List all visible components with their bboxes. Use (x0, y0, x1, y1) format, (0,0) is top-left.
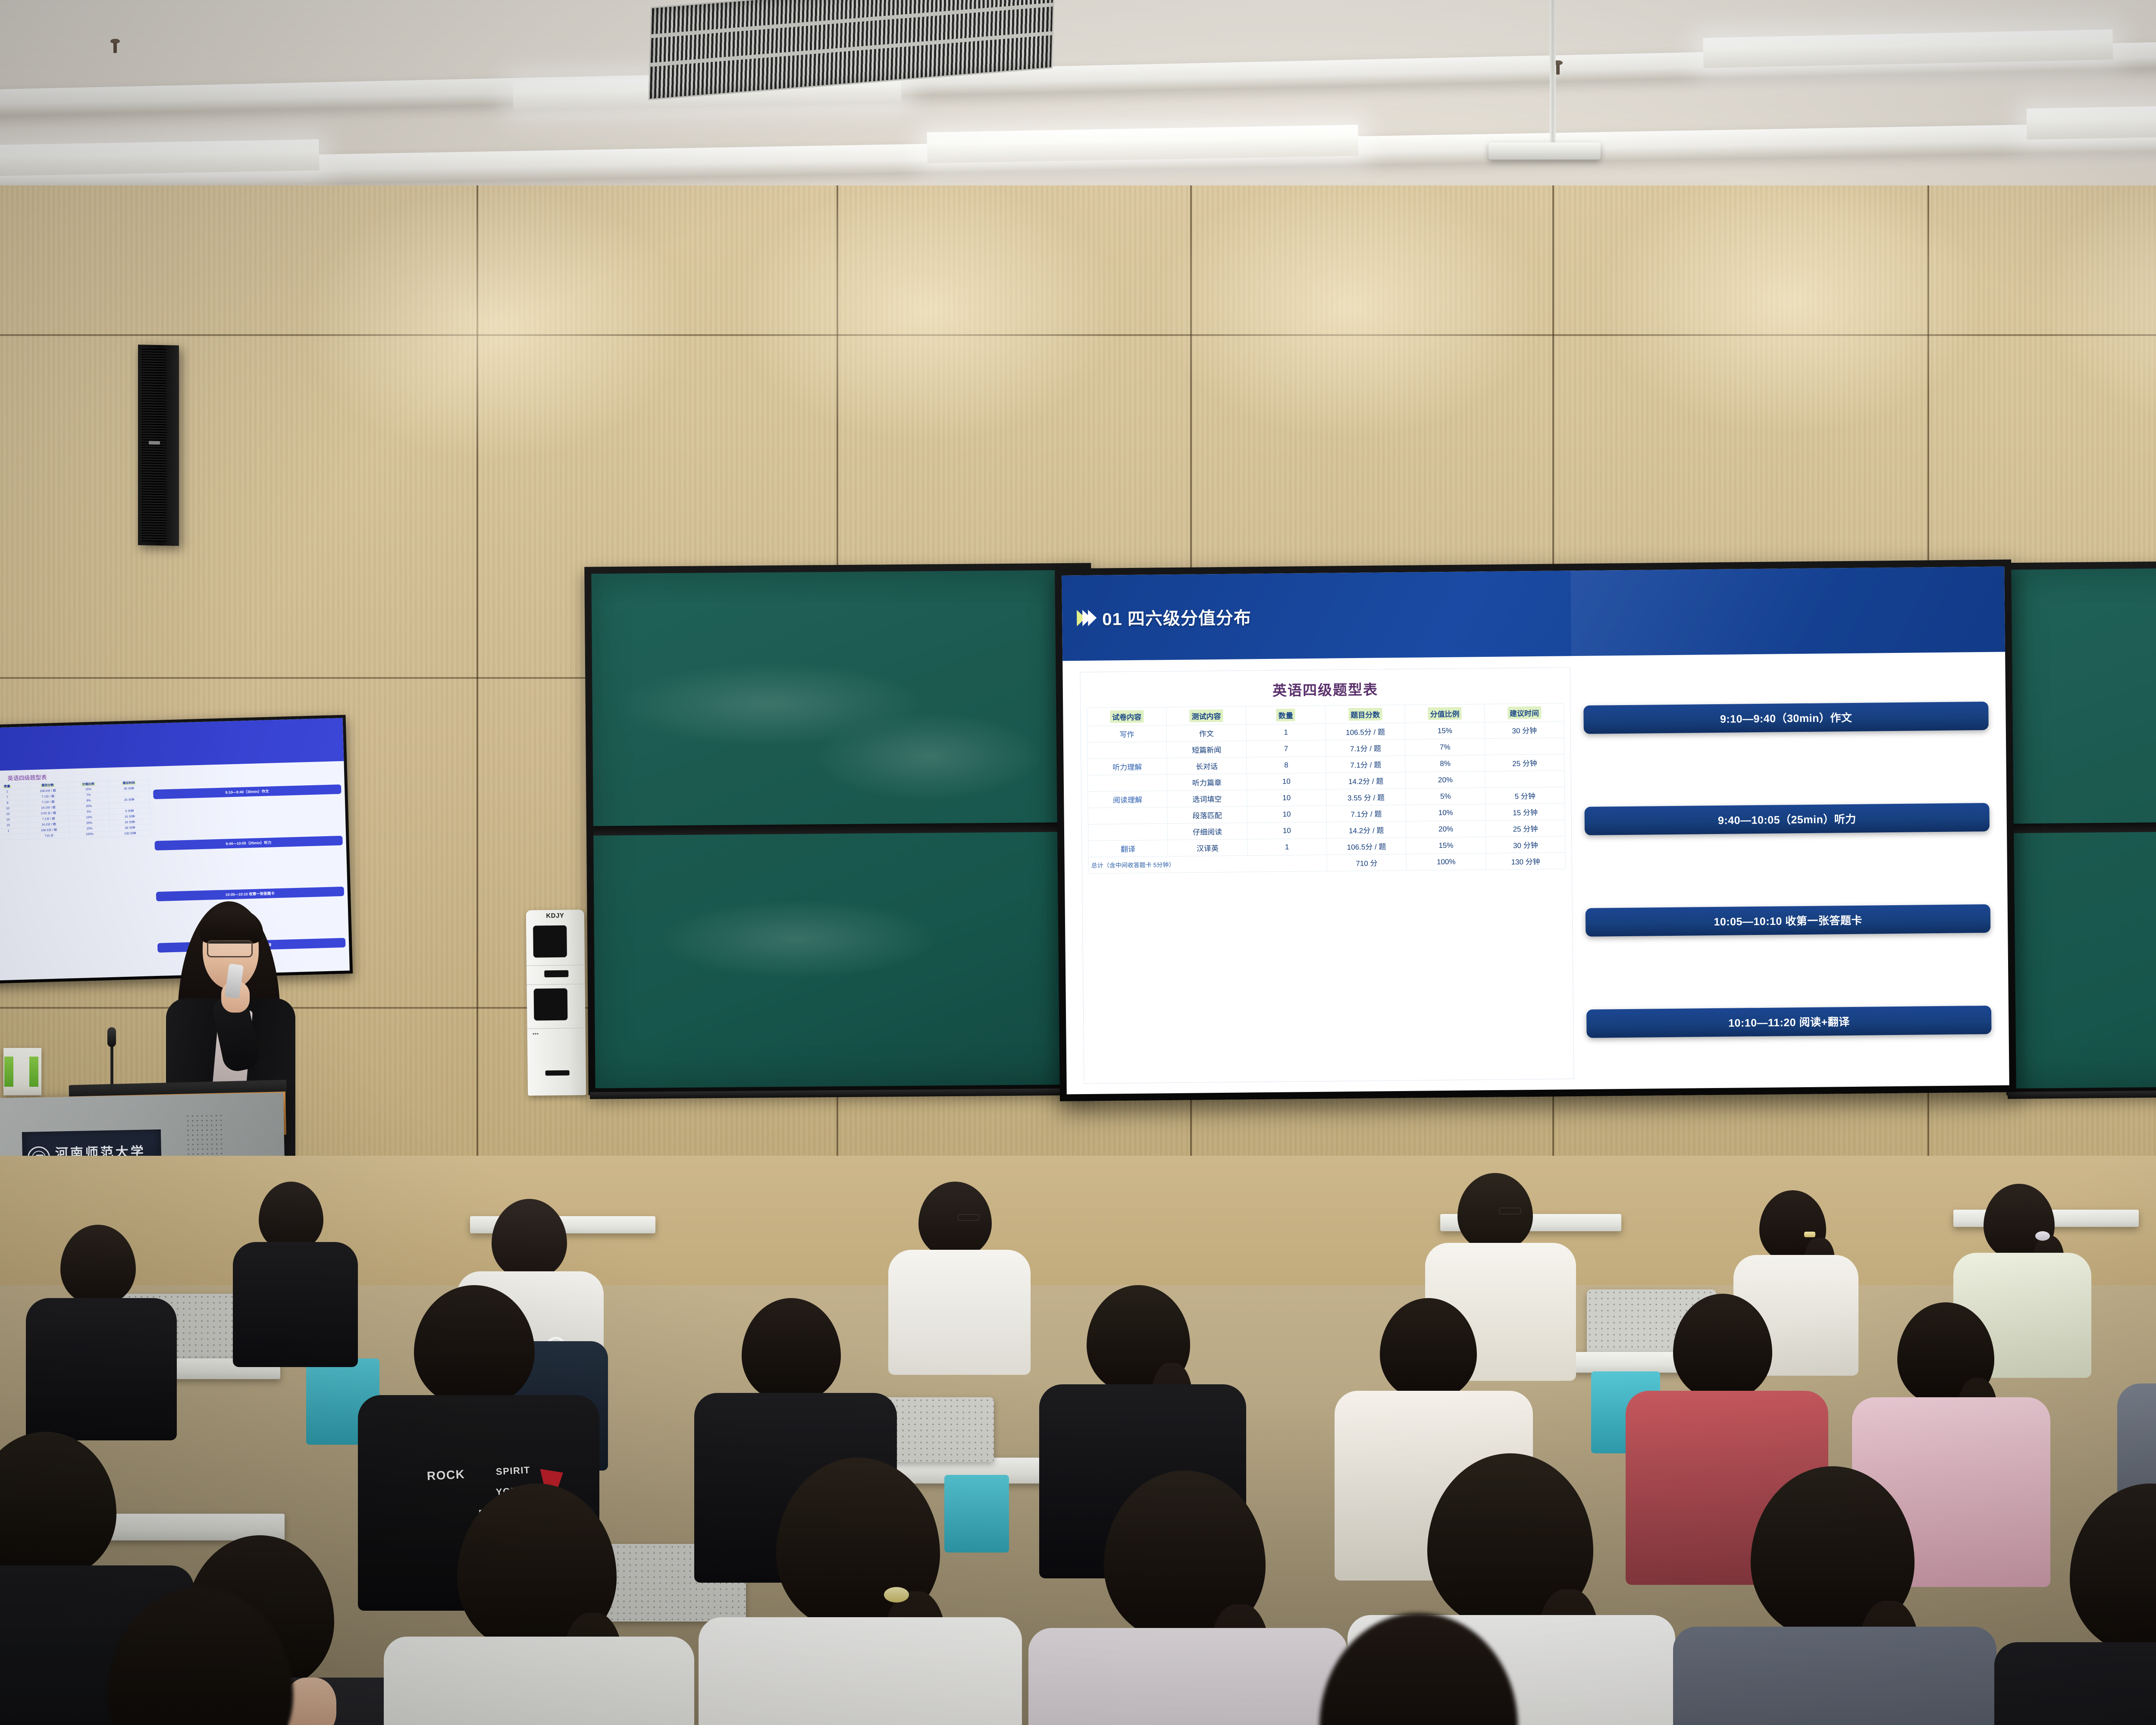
col-header-ratio: 分值比例 (1405, 704, 1485, 723)
cell-section (1088, 824, 1168, 841)
schedule-chip-writing: 9:10—9:40（30min）作文 (1583, 702, 1988, 734)
cell-total-points: 710 分 (1327, 854, 1407, 872)
monitor-score-table: 试卷内容 测试内容 数量 题目分数 分值比例 建议时间 写作作文1 (0, 779, 151, 843)
monitor-chip-writing: 9:10—9:40（30min）作文 (153, 784, 342, 799)
cell-points: 7.1分 / 题 (1326, 740, 1406, 757)
cell-ratio: 7% (1405, 739, 1485, 756)
wall-column-speaker (138, 345, 179, 546)
col-header-count: 数量 (1246, 706, 1326, 725)
cell-time (1485, 771, 1565, 788)
kdjy-bottom-slot[interactable] (545, 1070, 570, 1076)
cell-ratio: 10% (1406, 804, 1485, 822)
cell-time: 25 分钟 (1485, 820, 1565, 837)
cell-ratio: 20% (1406, 821, 1486, 838)
col-header-time: 建议时间 (1484, 703, 1564, 722)
podium-gooseneck-mic-head (107, 1027, 116, 1047)
eyeglasses-icon (957, 1214, 980, 1221)
monitor-chip-listening: 9:40—10:05（25min）听力 (154, 835, 343, 850)
monitor-chip-collect: 10:05—10:10 收第一张答题卡 (156, 887, 344, 901)
cell-count: 1 (1246, 724, 1326, 741)
cell-ratio: 15% (1405, 722, 1485, 740)
kdjy-wall-control-panel[interactable]: KDJY ●●● (526, 910, 586, 1095)
cell-total-label: 总计（含中间收答题卡 5分钟） (1088, 855, 1327, 874)
blackboard-left (584, 563, 1095, 1095)
cell-content: 选词填空 (1167, 790, 1247, 807)
schedule-chip-collect-answersheet: 10:05—10:10 收第一张答题卡 (1586, 904, 1990, 937)
presenter-glasses (207, 940, 253, 957)
cell-time (1485, 738, 1564, 755)
cell-points: 14.2分 / 题 (1326, 822, 1406, 839)
cell-total-ratio: 100% (1406, 853, 1486, 871)
ceiling-light-strip-lower-left (0, 139, 320, 176)
cell-points: 106.5分 / 题 (1327, 838, 1407, 855)
slide-title: 01 四六级分值分布 (1102, 604, 1251, 630)
slide-header-bar: 01 四六级分值分布 (1062, 567, 2005, 661)
chair-seat[interactable] (944, 1475, 1009, 1552)
score-table-card: 英语四级题型表 试卷内容 测试内容 数量 题目分数 分值比例 建议时间 (1080, 668, 1574, 1084)
cell-content: 作文 (1166, 724, 1246, 742)
chevron-right-icon-white-2 (1088, 610, 1097, 626)
projection-screen: 01 四六级分值分布 英语四级题型表 试卷内容 测试内容 数量 题目分数 分值比… (1055, 559, 2016, 1101)
cell-content: 听力篇章 (1167, 774, 1247, 791)
col-header-content: 测试内容 (1166, 706, 1246, 725)
monitor-table-wrap: 英语四级题型表 试卷内容 测试内容 数量 题目分数 分值比例 建议时间 (0, 769, 155, 980)
cell-points: 14.2分 / 题 (1326, 772, 1406, 790)
col-header-points: 题目分数 (1326, 705, 1405, 724)
graphic-tee-text-spirit: SPIRIT (495, 1465, 530, 1477)
cell-section (1088, 807, 1168, 825)
schedule-chip-listening: 9:40—10:05（25min）听力 (1585, 803, 1990, 835)
cell-content: 短篇新闻 (1167, 741, 1247, 758)
cell-points: 7.1分 / 题 (1326, 805, 1406, 822)
slide-body: 英语四级题型表 试卷内容 测试内容 数量 题目分数 分值比例 建议时间 (1062, 652, 2009, 1094)
slide-surface: 01 四六级分值分布 英语四级题型表 试卷内容 测试内容 数量 题目分数 分值比… (1062, 567, 2009, 1095)
cell-points: 106.5分 / 题 (1326, 723, 1405, 740)
cell-time: 15 分钟 (1485, 803, 1565, 821)
cell-content: 长对话 (1167, 757, 1247, 775)
chevron-group-icon (1077, 610, 1094, 626)
cell-points: 7.1分 / 题 (1326, 756, 1406, 773)
cell-content: 仔细阅读 (1168, 823, 1247, 840)
cell-section: 听力理解 (1087, 758, 1167, 775)
score-distribution-table: 试卷内容 测试内容 数量 题目分数 分值比例 建议时间 写作 作 (1087, 703, 1566, 874)
hair-scrunchie (884, 1587, 909, 1603)
cell-ratio: 20% (1406, 772, 1485, 789)
cell-ratio: 15% (1406, 837, 1486, 854)
cell-count: 1 (1247, 839, 1327, 856)
cell-time: 5 分钟 (1485, 787, 1565, 804)
schedule-chip-reading-translation: 10:10—11:20 阅读+翻译 (1586, 1006, 1991, 1038)
audience-area: THE NORTH FACE (0, 1156, 2156, 1725)
kdjy-port-lower[interactable] (534, 988, 568, 1021)
cell-content: 段落匹配 (1167, 806, 1247, 824)
kdjy-brand-label: KDJY (526, 912, 584, 919)
hair-scrunchie (2035, 1231, 2050, 1241)
table-caption: 英语四级题型表 (1087, 674, 1564, 708)
cell-count: 7 (1246, 740, 1326, 758)
eyeglasses-icon (1499, 1207, 1521, 1214)
graphic-tee-text-rock: ROCK (426, 1468, 465, 1483)
cell-time: 30 分钟 (1485, 721, 1564, 739)
cell-ratio: 5% (1406, 788, 1485, 805)
cell-section: 翻译 (1088, 840, 1168, 857)
ceiling-microphone-bar (1489, 142, 1601, 160)
cell-count: 10 (1247, 822, 1327, 840)
cell-section: 阅读理解 (1088, 791, 1168, 808)
cell-content: 汉译英 (1168, 839, 1247, 856)
cell-time: 25 分钟 (1485, 754, 1565, 772)
cell-total-time: 130 分钟 (1486, 853, 1566, 870)
kdjy-port-upper[interactable] (533, 925, 567, 958)
cell-section (1087, 775, 1167, 792)
cell-count: 10 (1247, 790, 1326, 807)
cell-section: 写作 (1087, 725, 1167, 743)
exam-schedule-column: 9:10—9:40（30min）作文 9:40—10:05（25min）听力 1… (1583, 663, 1992, 1079)
cell-ratio: 8% (1405, 755, 1485, 772)
blackboard-right (2002, 558, 2156, 1095)
cell-count: 10 (1247, 806, 1327, 823)
cell-time: 30 分钟 (1485, 836, 1565, 853)
fire-sprinkler-left (110, 39, 120, 53)
cell-section (1087, 742, 1167, 759)
ceiling-microphone-rod (1550, 0, 1556, 144)
tissue-box (3, 1048, 41, 1095)
cell-points: 3.55 分 / 题 (1326, 789, 1406, 806)
hair-clip (1804, 1232, 1815, 1237)
kdjy-card-slot[interactable] (544, 970, 569, 978)
lecture-hall-photo: KDJY ●●● 01 四六级分值分布 英语四级题型表 (0, 0, 2156, 1725)
cell-count: 8 (1247, 757, 1326, 774)
col-header-section: 试卷内容 (1087, 707, 1167, 726)
cell-count: 10 (1247, 773, 1326, 790)
